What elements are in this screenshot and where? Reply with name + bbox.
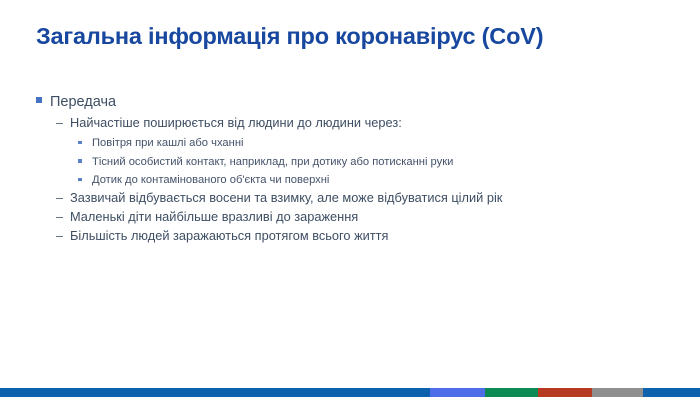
content-body: Передача – Найчастіше поширюється від лю… bbox=[36, 92, 676, 246]
page-title: Загальна інформація про коронавірус (CoV… bbox=[36, 23, 666, 50]
bullet-level2-children-risk: – Маленькі діти найбільше вразливі до за… bbox=[36, 208, 676, 226]
bullet-level1-transmission: Передача bbox=[36, 92, 676, 112]
footer-segment-red bbox=[538, 388, 592, 397]
footer-segment-blue-right bbox=[643, 388, 700, 397]
slide-canvas: Загальна інформація про коронавірус (CoV… bbox=[0, 0, 700, 400]
bullet-level3-close-contact: Тісний особистий контакт, наприклад, при… bbox=[36, 152, 676, 171]
small-square-bullet-icon bbox=[78, 168, 92, 186]
en-dash-icon: – bbox=[56, 227, 70, 245]
en-dash-icon: – bbox=[56, 189, 70, 207]
small-square-bullet-icon bbox=[78, 131, 92, 149]
en-dash-icon: – bbox=[56, 114, 70, 132]
bullet-level2-label: Зазвичай відбувається восени та взимку, … bbox=[70, 189, 502, 207]
bullet-level2-label: Найчастіше поширюється від людини до люд… bbox=[70, 114, 402, 132]
bullet-level3-label: Повітря при кашлі або чханні bbox=[92, 135, 244, 152]
bullet-level1-label: Передача bbox=[50, 92, 116, 112]
square-bullet-icon bbox=[36, 90, 50, 108]
bullet-level2-label: Більшість людей заражаються протягом всь… bbox=[70, 227, 388, 245]
footer-segment-blue-left bbox=[0, 388, 430, 397]
footer-color-bar bbox=[0, 388, 700, 397]
footer-segment-gray bbox=[592, 388, 643, 397]
bullet-level3-surface-touch: Дотик до контамінованого об'єкта чи пове… bbox=[36, 170, 676, 189]
bullet-level3-label: Тісний особистий контакт, наприклад, при… bbox=[92, 154, 453, 171]
bullet-level3-label: Дотик до контамінованого об'єкта чи пове… bbox=[92, 172, 329, 189]
bullet-level2-lifetime-infection: – Більшість людей заражаються протягом в… bbox=[36, 227, 676, 245]
en-dash-icon: – bbox=[56, 208, 70, 226]
footer-segment-green bbox=[485, 388, 538, 397]
bullet-level3-airborne: Повітря при кашлі або чханні bbox=[36, 133, 676, 152]
small-square-bullet-icon bbox=[78, 150, 92, 168]
bullet-level2-label: Маленькі діти найбільше вразливі до зара… bbox=[70, 208, 358, 226]
bullet-level2-seasonality: – Зазвичай відбувається восени та взимку… bbox=[36, 189, 676, 207]
footer-segment-periwinkle bbox=[430, 388, 485, 397]
bullet-level2-spread-intro: – Найчастіше поширюється від людини до л… bbox=[36, 114, 676, 132]
